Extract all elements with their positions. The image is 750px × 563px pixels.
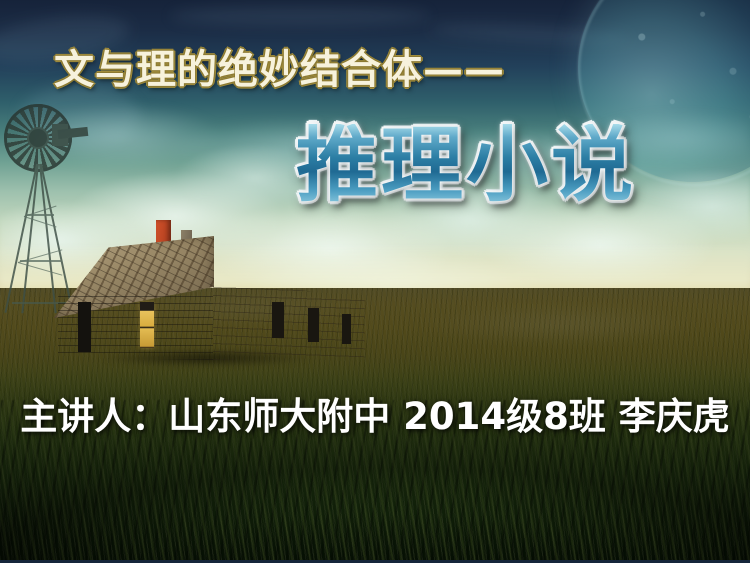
slide-subtitle: 文与理的绝妙结合体—— (54, 48, 614, 91)
house-lit-window (140, 302, 154, 348)
windmill-hub (29, 129, 47, 147)
house-window (308, 308, 319, 342)
presenter-line: 主讲人：山东师大附中 2014级8班 李庆虎 (0, 396, 750, 437)
windmill-leg (4, 164, 38, 313)
house-doorway (78, 302, 91, 352)
title-slide: 文与理的绝妙结合体—— 推理小说 推理小说 主讲人：山东师大附中 2014级8班… (0, 0, 750, 563)
windmill-tail-vane (58, 127, 89, 139)
cloud-wisp (170, 6, 430, 26)
slide-main-title: 推理小说 (296, 124, 636, 206)
house-window (272, 302, 284, 338)
farmhouse-illustration (46, 198, 366, 358)
house-window (342, 314, 351, 344)
